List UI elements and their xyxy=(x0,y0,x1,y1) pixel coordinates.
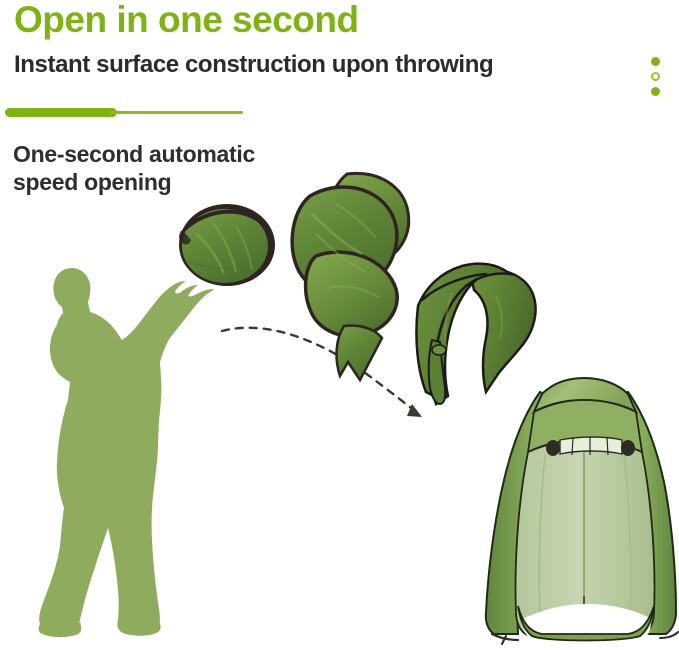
dashed-throw-arc-arrow xyxy=(222,328,422,417)
pagination-dot-1-icon xyxy=(651,57,660,66)
half-opened-tent-arch xyxy=(416,264,535,404)
pagination-dots xyxy=(650,57,664,99)
fully-popped-up-tent xyxy=(486,378,678,644)
page-title: Open in one second xyxy=(14,0,359,42)
section-divider xyxy=(5,108,245,118)
pagination-dot-2-icon xyxy=(651,72,660,81)
product-feature-banner: Open in one second Instant surface const… xyxy=(0,0,679,650)
feature-caption-line-2: speed opening xyxy=(13,168,255,196)
illustration-stage xyxy=(0,0,679,650)
person-throwing-tent-silhouette xyxy=(39,268,214,637)
divider-thick-bar xyxy=(5,108,117,117)
feature-caption-line-1: One-second automatic xyxy=(13,140,255,168)
unfurling-tent-bundle xyxy=(292,173,409,380)
tent-mesh-window-icon xyxy=(546,437,635,456)
divider-thin-bar xyxy=(109,111,243,114)
page-subtitle: Instant surface construction upon throwi… xyxy=(14,50,493,80)
feature-caption: One-second automatic speed opening xyxy=(13,140,255,196)
folded-tent-disc xyxy=(179,204,275,286)
pagination-dot-3-icon xyxy=(651,87,660,96)
